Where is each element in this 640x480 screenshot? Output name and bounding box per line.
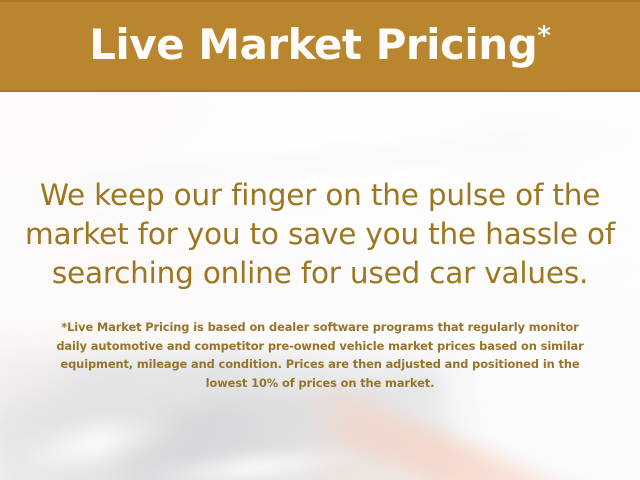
page-title: Live Market Pricing* xyxy=(89,24,551,66)
headline-line: We keep our finger on the pulse of the xyxy=(22,176,618,215)
disclaimer-line: *Live Market Pricing is based on dealer … xyxy=(24,318,616,337)
headline-line: market for you to save you the hassle of xyxy=(22,215,618,254)
disclaimer-block: *Live Market Pricing is based on dealer … xyxy=(0,318,640,392)
disclaimer-line: lowest 10% of prices on the market. xyxy=(24,374,616,393)
disclaimer-line: daily automotive and competitor pre-owne… xyxy=(24,337,616,356)
disclaimer-line: equipment, mileage and condition. Prices… xyxy=(24,355,616,374)
page-title-text: Live Market Pricing xyxy=(89,20,537,69)
slide-root: Live Market Pricing* We keep our finger … xyxy=(0,0,640,480)
headline-line: searching online for used car values. xyxy=(22,254,618,293)
footnote-marker: * xyxy=(537,21,551,51)
headline-block: We keep our finger on the pulse of the m… xyxy=(0,176,640,293)
header-band: Live Market Pricing* xyxy=(0,0,640,92)
